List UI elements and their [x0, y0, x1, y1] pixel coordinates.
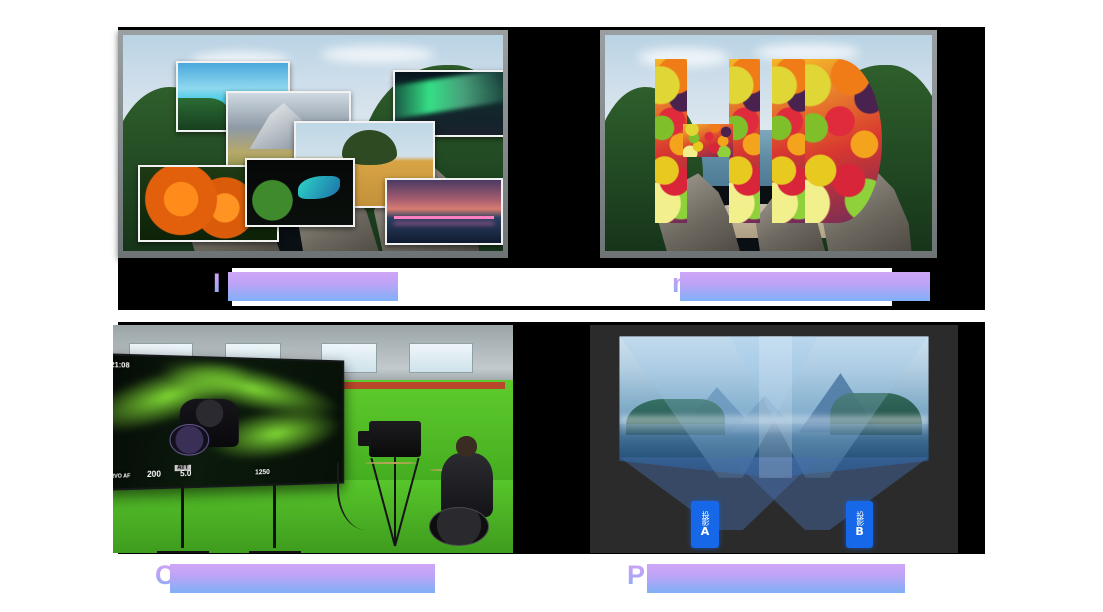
bass-drum: [429, 507, 489, 546]
display-screen: [123, 35, 503, 251]
osd-timecode: 21:08: [113, 362, 130, 370]
display-stand-foot: [157, 551, 209, 553]
osd-aperture: 5.0: [180, 469, 191, 478]
projector-b-label-cn: 投影: [855, 511, 863, 525]
display-bezel: [118, 30, 508, 258]
tripod-leg: [394, 458, 420, 547]
edge-blend-overlap-zone: [759, 336, 792, 477]
projector-b-id: B: [855, 526, 863, 538]
display-stand-leg: [273, 485, 276, 549]
caption-projection-edge-blending: P: [627, 560, 646, 591]
projector-a-label-cn: 投影: [701, 511, 709, 525]
display-stand-foot: [249, 551, 301, 553]
panel-multi-window-display[interactable]: [118, 30, 508, 258]
caption-hd-letters-display: n: [672, 268, 689, 299]
letter-d: [772, 59, 882, 223]
panel-virtual-production-studio[interactable]: 21:08 ATT 200 5.0 1250 RVO AF: [113, 325, 513, 553]
letter-h: [655, 59, 760, 223]
osd-shutter: 1250: [255, 469, 270, 476]
letter-d-bowl: [794, 59, 882, 223]
caption-redaction-bar: [170, 564, 435, 593]
cinema-camera: [369, 421, 421, 457]
hd-letters: [638, 59, 900, 223]
thumbnail-hummingbird[interactable]: [245, 158, 355, 227]
cloud: [321, 46, 435, 63]
display-screen: [605, 35, 932, 251]
caption-white-band: [232, 268, 892, 306]
projector-a-id: A: [701, 526, 710, 538]
projector-b[interactable]: 投影 B: [846, 501, 874, 549]
led-video-wall: 21:08 ATT 200 5.0 1250 RVO AF: [113, 353, 344, 491]
thumbnail-bridge[interactable]: [385, 178, 503, 245]
projector-a[interactable]: 投影 A: [691, 501, 719, 549]
panel-hd-letters-display[interactable]: [600, 30, 937, 258]
showcase-page: 21:08 ATT 200 5.0 1250 RVO AF: [0, 0, 1103, 612]
studio-window: [409, 343, 473, 373]
caption-multi-window-display: I: [213, 268, 221, 299]
caption-redaction-bar: [647, 564, 905, 593]
display-bezel: [600, 30, 937, 258]
wall-stripe: [333, 382, 505, 389]
caption-virtual-production-studio: C g: [155, 560, 200, 591]
tripod-leg: [394, 455, 396, 546]
letter-h-right-stem: [729, 59, 760, 223]
cymbal: [365, 462, 417, 464]
studio-photo: 21:08 ATT 200 5.0 1250 RVO AF: [113, 325, 513, 553]
panel-projection-edge-blending[interactable]: 投影 A 投影 B: [590, 325, 958, 553]
osd-iso: 200: [147, 470, 161, 480]
osd-focus: RVO AF: [113, 474, 130, 481]
letter-h-crossbar: [683, 124, 733, 157]
letter-d-stem: [772, 59, 805, 223]
display-stand-leg: [181, 485, 184, 549]
projection-diagram: 投影 A 投影 B: [590, 325, 958, 553]
led-wall-bass-drum: [170, 424, 210, 455]
